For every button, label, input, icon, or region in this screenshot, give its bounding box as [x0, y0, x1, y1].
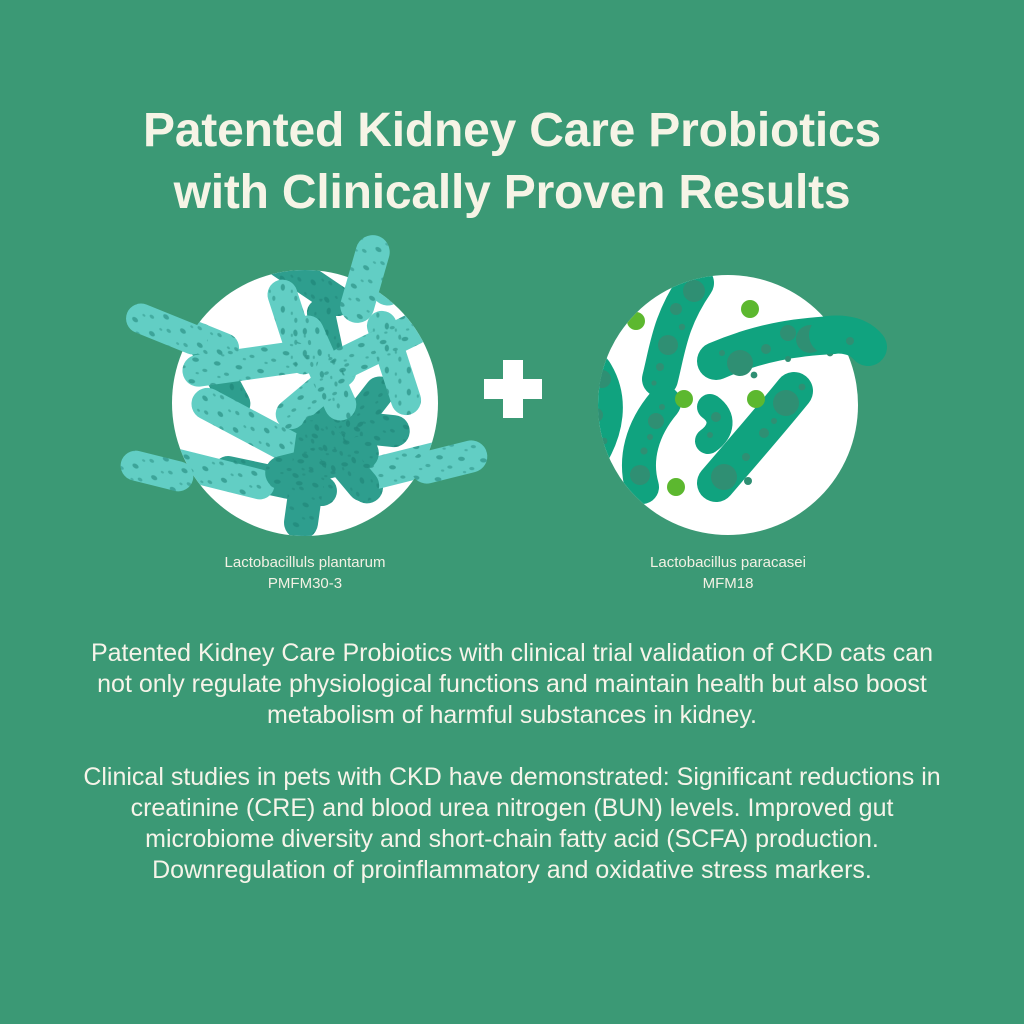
- poster-canvas: Patented Kidney Care Probiotics with Cli…: [0, 0, 1024, 1024]
- caption-left-strain: PMFM30-3: [155, 573, 455, 594]
- caption-left: Lactobacilluls plantarum PMFM30-3: [155, 552, 455, 594]
- dish-captions: Lactobacilluls plantarum PMFM30-3 Lactob…: [0, 552, 1024, 602]
- page-title: Patented Kidney Care Probiotics with Cli…: [0, 100, 1024, 224]
- title-line-2: with Clinically Proven Results: [0, 162, 1024, 224]
- title-line-1: Patented Kidney Care Probiotics: [0, 100, 1024, 162]
- caption-left-species: Lactobacilluls plantarum: [155, 552, 455, 573]
- probiotic-illustration: [0, 258, 1024, 558]
- body-copy: Patented Kidney Care Probiotics with cli…: [82, 638, 942, 886]
- rod-bacteria-art: [172, 270, 438, 536]
- curved-bacteria-art: [598, 275, 858, 535]
- plus-icon: [484, 360, 542, 418]
- lactobacillus-plantarum-dish: [172, 270, 438, 536]
- body-paragraph-1: Patented Kidney Care Probiotics with cli…: [82, 638, 942, 731]
- caption-right: Lactobacillus paracasei MFM18: [578, 552, 878, 594]
- plus-icon-vertical-bar: [503, 360, 523, 418]
- lactobacillus-paracasei-dish: [598, 275, 858, 535]
- body-paragraph-2: Clinical studies in pets with CKD have d…: [82, 762, 942, 886]
- caption-right-species: Lactobacillus paracasei: [578, 552, 878, 573]
- caption-right-strain: MFM18: [578, 573, 878, 594]
